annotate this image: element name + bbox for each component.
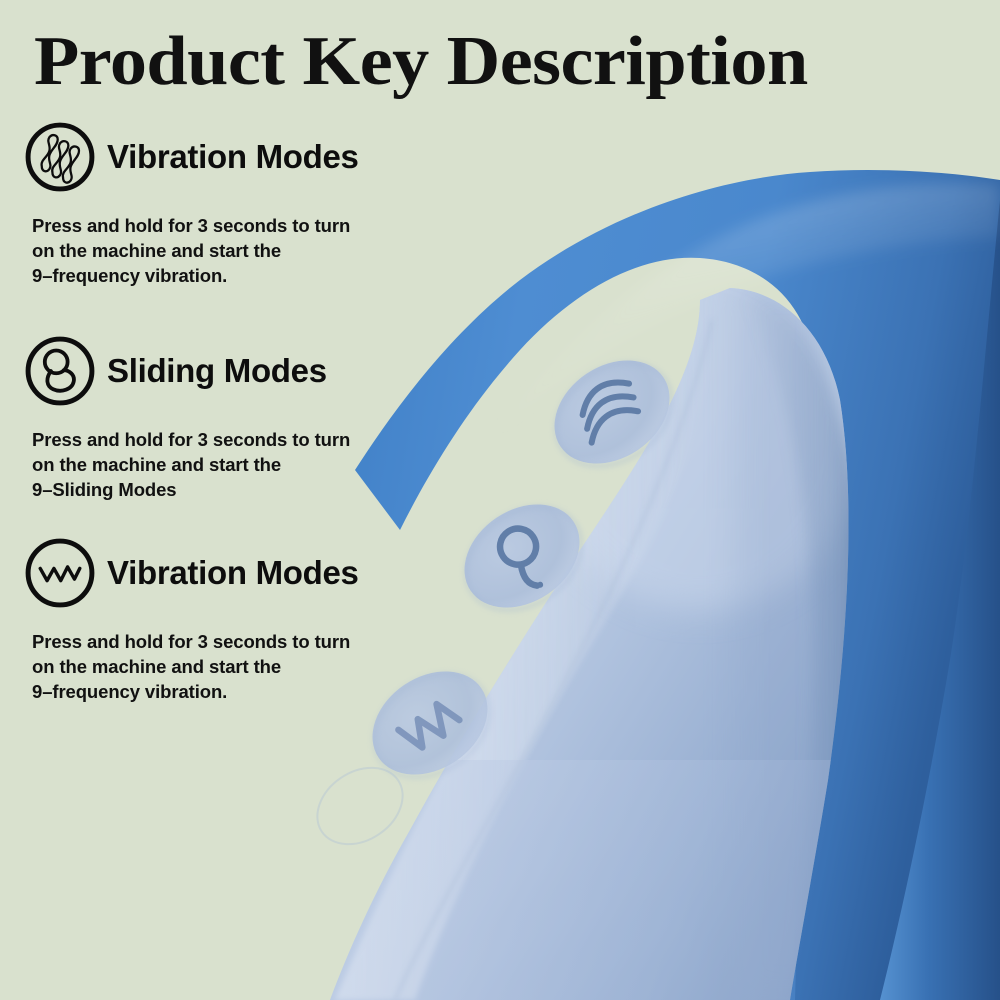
product-button-sliding bbox=[445, 483, 601, 631]
feature-body-line: 9–frequency vibration. bbox=[32, 263, 452, 288]
feature-body-line: Press and hold for 3 seconds to turn bbox=[32, 213, 452, 238]
zigzag-wave-icon bbox=[22, 535, 98, 611]
feature-title: Vibration Modes bbox=[107, 555, 359, 591]
feature-title: Sliding Modes bbox=[107, 353, 327, 389]
feature-block-vibration-modes-2: Vibration Modes Press and hold for 3 sec… bbox=[22, 534, 452, 704]
feature-body: Press and hold for 3 seconds to turn on … bbox=[32, 629, 452, 704]
feature-header: Sliding Modes bbox=[22, 332, 452, 410]
panel-bottom-wash bbox=[300, 760, 860, 1000]
feature-body-line: on the machine and start the bbox=[32, 238, 452, 263]
feature-block-vibration-modes-1: Vibration Modes Press and hold for 3 sec… bbox=[22, 118, 452, 288]
product-top-sheen bbox=[490, 184, 1000, 440]
feature-block-sliding-modes: Sliding Modes Press and hold for 3 secon… bbox=[22, 332, 452, 502]
panel-lower-detail bbox=[303, 752, 417, 860]
feature-body-line: Press and hold for 3 seconds to turn bbox=[32, 629, 452, 654]
page-title: Product Key Description bbox=[34, 26, 1000, 98]
zigzag-icon bbox=[398, 699, 461, 755]
panel-seam-shadow bbox=[745, 292, 871, 1000]
product-button-vibration bbox=[535, 339, 691, 487]
feature-header: Vibration Modes bbox=[22, 534, 452, 612]
feature-title: Vibration Modes bbox=[107, 139, 359, 175]
product-mid-band bbox=[620, 560, 796, 1000]
feature-body-line: 9–frequency vibration. bbox=[32, 679, 452, 704]
button-pad bbox=[535, 339, 689, 485]
loop-icon bbox=[493, 522, 559, 596]
button-pad-shadow bbox=[537, 342, 691, 488]
panel-tone-band bbox=[735, 280, 830, 1000]
panel-nose-highlight bbox=[535, 250, 865, 610]
button-pad bbox=[445, 483, 599, 629]
feature-body-line: 9–Sliding Modes bbox=[32, 477, 452, 502]
feature-header: Vibration Modes bbox=[22, 118, 452, 196]
sliding-loop-icon bbox=[22, 333, 98, 409]
feature-body-line: on the machine and start the bbox=[32, 654, 452, 679]
product-body-rim bbox=[880, 200, 1000, 1000]
wavy-ribbons-icon bbox=[22, 119, 98, 195]
infographic-canvas: Product Key Description Vibration Modes … bbox=[0, 0, 1000, 1000]
feature-body-line: Press and hold for 3 seconds to turn bbox=[32, 427, 452, 452]
feature-body: Press and hold for 3 seconds to turn on … bbox=[32, 427, 452, 502]
feature-body-line: on the machine and start the bbox=[32, 452, 452, 477]
wavy-lines-icon bbox=[568, 372, 644, 442]
button-pad-shadow bbox=[447, 486, 601, 632]
feature-body: Press and hold for 3 seconds to turn on … bbox=[32, 213, 452, 288]
